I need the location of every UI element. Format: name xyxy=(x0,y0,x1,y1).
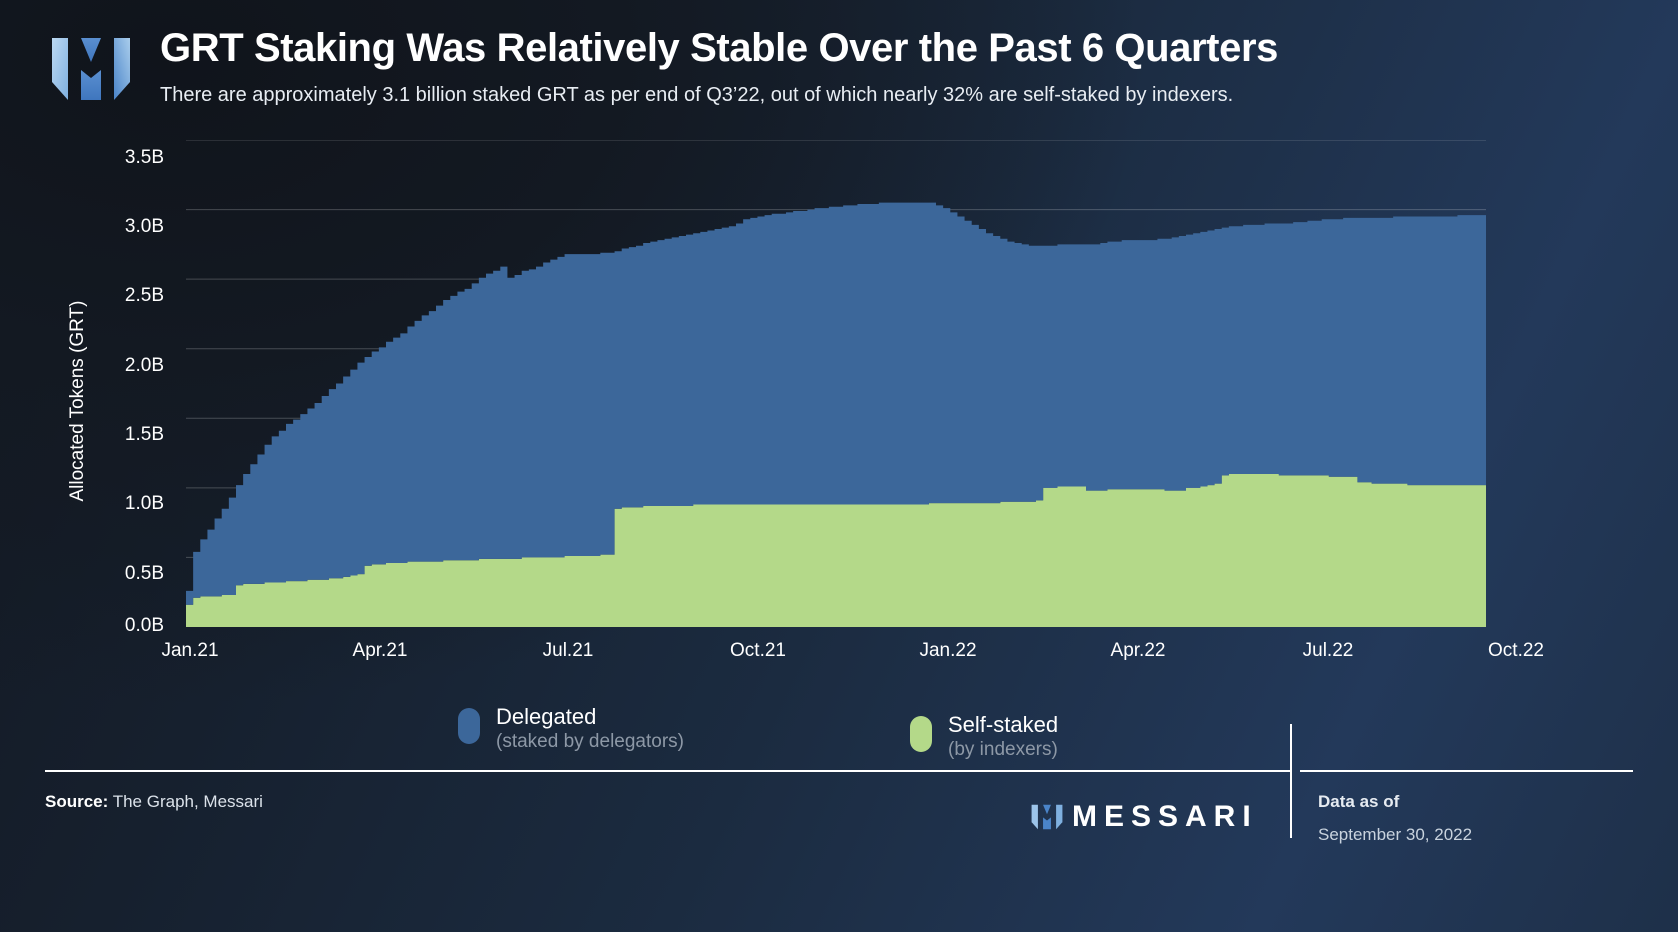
messari-m-logo-icon xyxy=(48,32,134,106)
x-axis-tick: Jan.22 xyxy=(919,640,976,662)
legend-label: Self-staked xyxy=(948,712,1058,738)
legend-swatch-self-staked xyxy=(910,716,932,752)
x-axis-ticks: Jan.21 Apr.21 Jul.21 Oct.21 Jan.22 Apr.2… xyxy=(0,140,1678,685)
footer-divider-left xyxy=(45,770,1290,772)
legend-item-self-staked[interactable]: Self-staked (by indexers) xyxy=(910,712,1058,762)
x-axis-tick: Apr.22 xyxy=(1111,640,1166,662)
x-axis-tick: Oct.21 xyxy=(730,640,786,662)
x-axis-tick: Apr.21 xyxy=(353,640,408,662)
source-label: Source: xyxy=(45,792,108,811)
x-axis-tick: Jul.22 xyxy=(1303,640,1354,662)
legend-swatch-delegated xyxy=(458,708,480,744)
page-title: GRT Staking Was Relatively Stable Over t… xyxy=(160,26,1278,71)
legend-sublabel: (staked by delegators) xyxy=(496,730,684,754)
x-axis-tick: Jan.21 xyxy=(161,640,218,662)
chart-container: Allocated Tokens (GRT) 3.5B 3.0B 2.5B 2.… xyxy=(0,140,1678,685)
messari-brand: MESSARI xyxy=(1030,800,1258,834)
footer-vertical-divider xyxy=(1290,724,1292,838)
source-credit: Source: The Graph, Messari xyxy=(45,792,263,812)
messari-wordmark: MESSARI xyxy=(1072,800,1258,834)
legend-item-delegated[interactable]: Delegated (staked by delegators) xyxy=(458,704,684,754)
data-as-of-value: September 30, 2022 xyxy=(1318,825,1472,845)
source-value: The Graph, Messari xyxy=(113,792,263,811)
legend-sublabel: (by indexers) xyxy=(948,738,1058,762)
legend-label: Delegated xyxy=(496,704,684,730)
footer-divider-right xyxy=(1300,770,1633,772)
chart-legend: Delegated (staked by delegators) Self-st… xyxy=(0,690,1678,770)
x-axis-tick: Jul.21 xyxy=(543,640,594,662)
page-subtitle: There are approximately 3.1 billion stak… xyxy=(160,84,1233,107)
x-axis-tick: Oct.22 xyxy=(1488,640,1544,662)
header: GRT Staking Was Relatively Stable Over t… xyxy=(0,0,1678,140)
messari-m-logo-icon xyxy=(1030,802,1064,832)
footer: Source: The Graph, Messari MESSARI Data … xyxy=(0,770,1678,932)
data-as-of-label: Data as of xyxy=(1318,792,1399,812)
